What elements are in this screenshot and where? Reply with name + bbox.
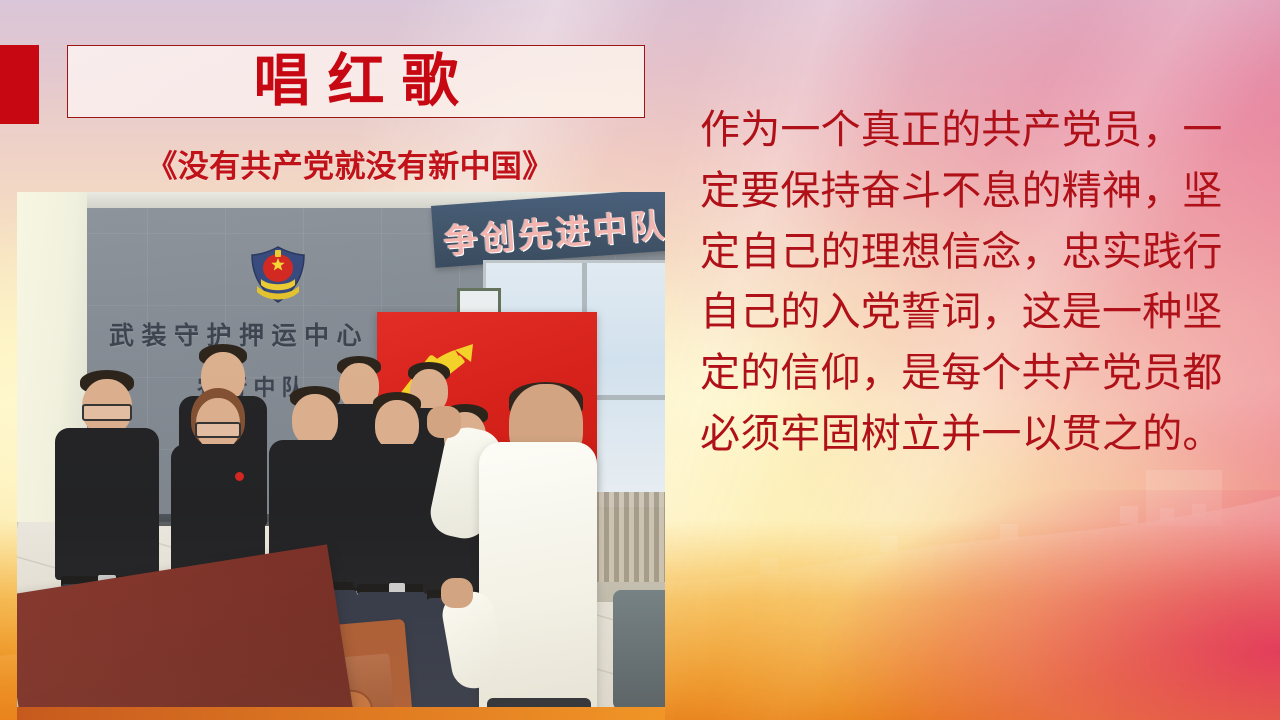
photo-office-chair	[613, 590, 665, 710]
photo-scene: 武装守护押运中心 农行中队 争创先进中队	[17, 192, 665, 720]
body-paragraph: 作为一个真正的共产党员，一定要保持奋斗不息的精神，坚定自己的理想信念，忠实践行自…	[700, 100, 1248, 465]
slide-canvas: 唱红歌 《没有共产党就没有新中国》 武装守护押运中心 农行中队	[0, 0, 1280, 720]
conductor-lower-fist	[441, 578, 473, 608]
police-emblem-icon	[247, 244, 309, 306]
conductor-raised-fist	[427, 406, 461, 438]
choir-photo: 武装守护押运中心 农行中队 争创先进中队	[17, 192, 665, 720]
photo-banner-text: 争创先进中队	[442, 198, 665, 263]
photo-bottom-strip	[17, 707, 665, 720]
background-lower-pink-glow	[760, 490, 1280, 720]
page-title: 唱红歌	[236, 53, 475, 110]
title-box: 唱红歌	[67, 45, 645, 118]
accent-red-block	[0, 45, 39, 124]
song-title: 《没有共产党就没有新中国》	[0, 152, 700, 183]
body-text-block: 作为一个真正的共产党员，一定要保持奋斗不息的精神，坚定自己的理想信念，忠实践行自…	[700, 100, 1248, 465]
